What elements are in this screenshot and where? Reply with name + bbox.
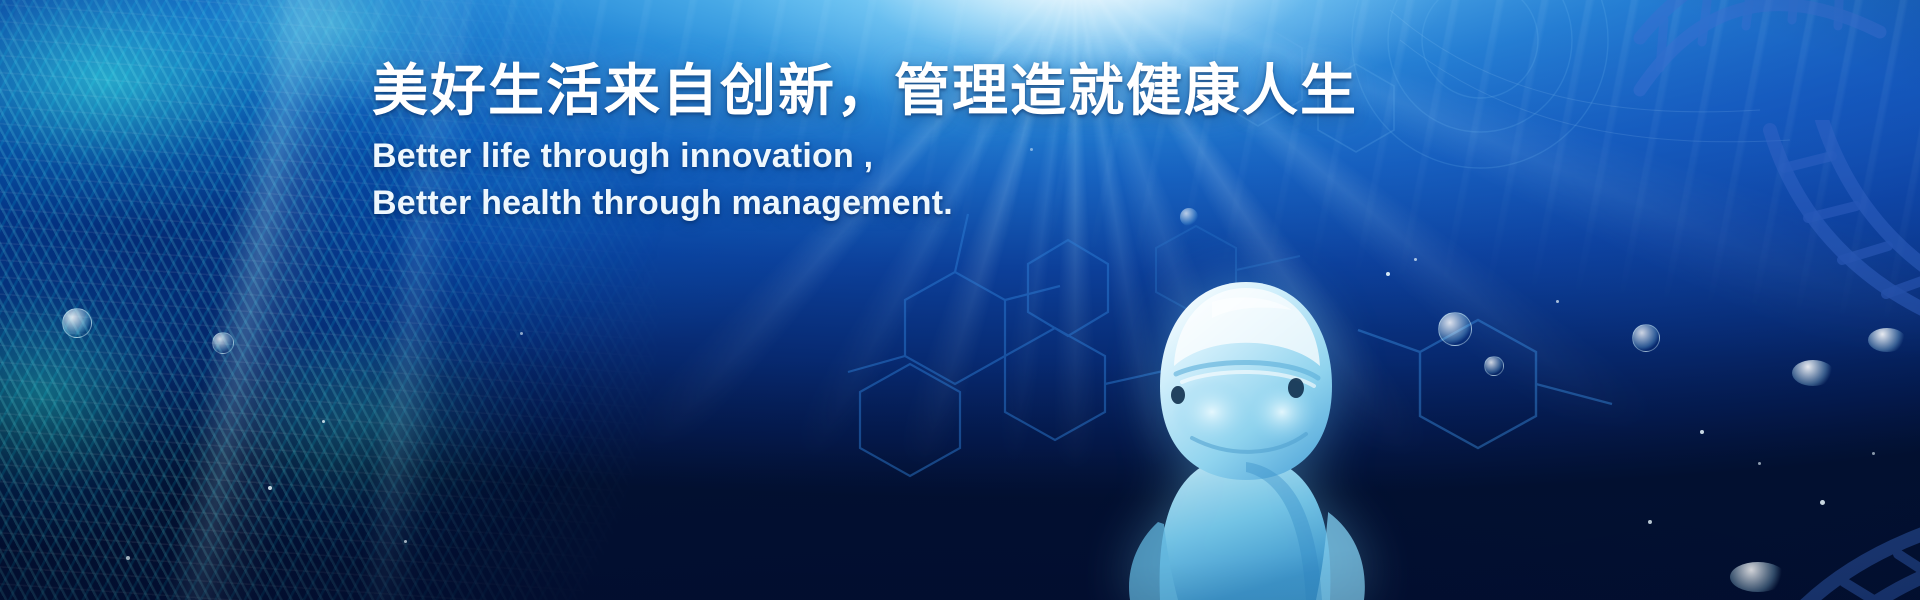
- dna-helix-icon: [1760, 120, 1920, 440]
- subtitle-line-2: Better health through management.: [372, 180, 1612, 227]
- page-title: 美好生活来自创新，管理造就健康人生: [372, 60, 1612, 123]
- dolphin: [1120, 262, 1370, 600]
- dna-helix-icon: [1630, 0, 1920, 240]
- dna-helix-icon: [1740, 430, 1920, 600]
- banner-copy: 美好生活来自创新，管理造就健康人生 Better life through in…: [372, 60, 1612, 227]
- subtitle-line-1: Better life through innovation ,: [372, 133, 1612, 180]
- banner-subtitle: Better life through innovation , Better …: [372, 133, 1612, 227]
- hero-banner: 美好生活来自创新，管理造就健康人生 Better life through in…: [0, 0, 1920, 600]
